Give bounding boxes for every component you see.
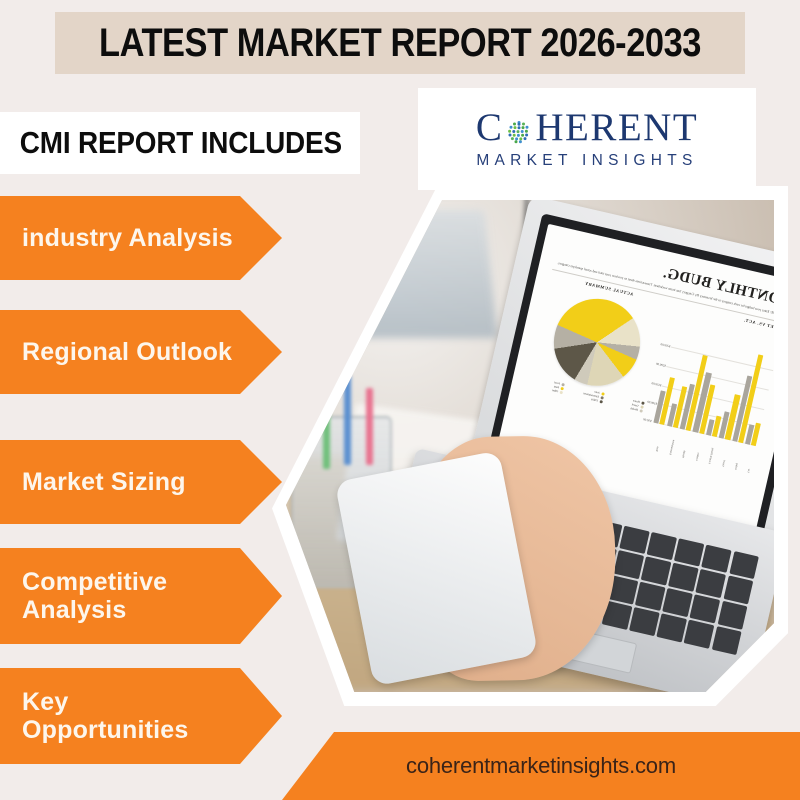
logo-wordmark: C: [476, 108, 698, 147]
x-label: Car: [739, 454, 754, 473]
poster-canvas: LATEST MARKET REPORT 2026-2033 CMI REPOR…: [0, 0, 800, 800]
photo-scene-mirrored: MONTHLY BUDG. HOW TO USE: Enter your bud…: [286, 200, 774, 692]
x-label: Health: [674, 439, 689, 458]
website-url[interactable]: coherentmarketinsights.com: [282, 732, 800, 800]
pie-chart-circle: [545, 290, 648, 393]
legend-label: Auto: [594, 390, 600, 394]
logo-tagline: MARKET INSIGHTS: [476, 152, 697, 170]
y-axis-label: $50.00: [643, 417, 652, 423]
y-axis-label: $250.00: [660, 342, 671, 348]
feature-arrow-label: Competitive Analysis: [0, 568, 167, 625]
bar-chart-bars: [654, 329, 774, 445]
y-axis-label: $100.00: [647, 399, 658, 405]
dotted-globe-icon: [504, 115, 534, 145]
page-title: LATEST MARKET REPORT 2026-2033: [103, 12, 696, 74]
y-axis-label: $200.00: [656, 362, 667, 368]
feature-arrow-regional-outlook[interactable]: Regional Outlook: [0, 310, 282, 394]
feature-arrow-key-opportunities[interactable]: Key Opportunities: [0, 668, 282, 764]
feature-arrow-market-sizing[interactable]: Market Sizing: [0, 440, 282, 524]
feature-arrow-label: industry Analysis: [0, 224, 233, 253]
x-label: Rent: [648, 433, 663, 452]
y-axis-label: $150.00: [651, 381, 662, 387]
feature-arrow-label: Market Sizing: [0, 468, 186, 497]
legend-label: Other: [552, 389, 559, 393]
legend-label: Rent: [554, 385, 560, 389]
feature-arrow-label: Regional Outlook: [0, 338, 232, 367]
laptop-photo: MONTHLY BUDG. HOW TO USE: Enter your bud…: [286, 200, 774, 692]
feature-arrow-competitive-analysis[interactable]: Competitive Analysis: [0, 548, 282, 644]
feature-arrow-label: Key Opportunities: [0, 688, 188, 745]
logo-letter-c: C: [476, 108, 504, 147]
feature-arrow-industry-analysis[interactable]: industry Analysis: [0, 196, 282, 280]
logo-letters-herent: HERENT: [535, 108, 698, 147]
pen-pink: [366, 388, 373, 465]
section-label: CMI REPORT INCLUDES: [0, 112, 324, 174]
hexagon-photo-frame: MONTHLY BUDG. HOW TO USE: Enter your bud…: [272, 186, 788, 706]
coherent-market-insights-logo: C: [418, 88, 756, 190]
x-label: Food & Dining: [700, 445, 715, 464]
